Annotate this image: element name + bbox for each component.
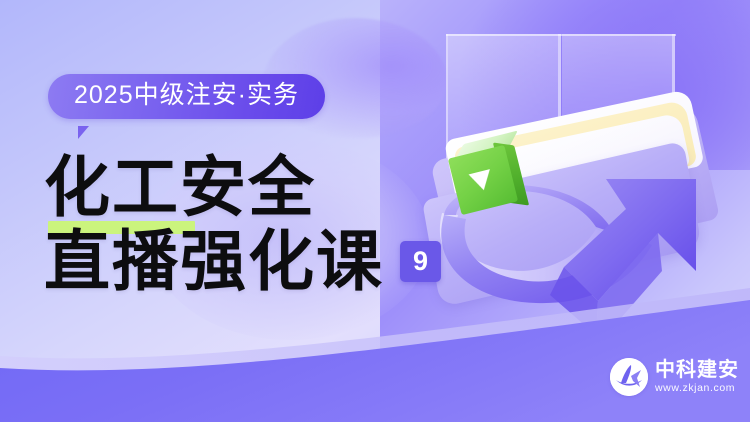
headline-line-2-row: 直播强化课 9 bbox=[44, 224, 514, 298]
brand-url: www.zkjan.com bbox=[655, 382, 739, 394]
headline-line-2: 直播强化课 bbox=[44, 224, 384, 298]
bottom-purple-band bbox=[0, 282, 750, 422]
brand-name: 中科建安 bbox=[655, 360, 739, 381]
brand-logo: 中科建安 www.zkjan.com bbox=[610, 358, 739, 396]
brand-logo-text: 中科建安 www.zkjan.com bbox=[655, 360, 739, 394]
page-title: 化工安全 直播强化课 9 bbox=[44, 150, 514, 298]
badge-pointer bbox=[78, 126, 92, 139]
course-category-badge: 2025中级注安·实务 bbox=[48, 74, 325, 119]
episode-number-badge: 9 bbox=[400, 241, 441, 282]
headline-line-1: 化工安全 bbox=[44, 150, 514, 224]
zkjan-circle-logo-icon bbox=[610, 358, 648, 396]
course-poster: 2025中级注安·实务 化工安全 直播强化课 9 中科建安 www.zkjan.… bbox=[0, 0, 750, 422]
